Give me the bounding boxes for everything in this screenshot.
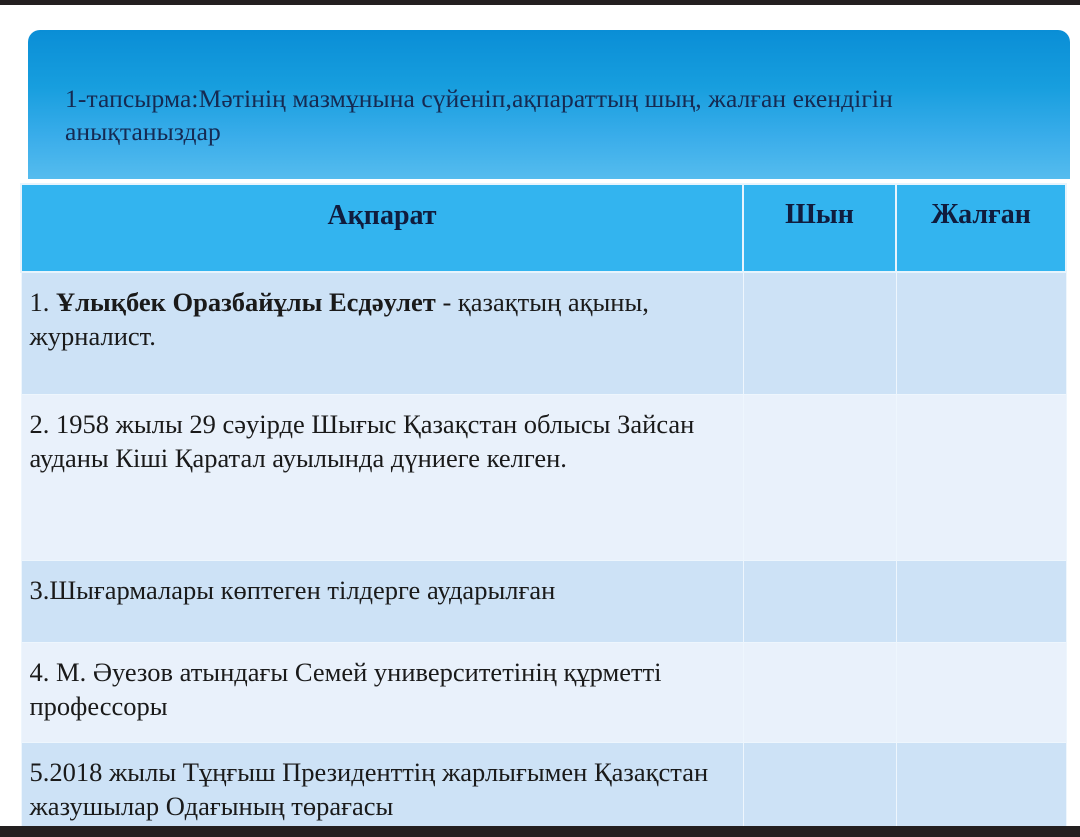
statement-text: 4. М. Әуезов атындағы Семей университеті…	[30, 655, 729, 724]
false-answer-cell[interactable]	[896, 394, 1066, 560]
table-row: 1. Ұлықбек Оразбайұлы Есдәулет - қазақты…	[21, 272, 1066, 394]
statement-cell: 1. Ұлықбек Оразбайұлы Есдәулет - қазақты…	[21, 272, 743, 394]
statement-cell: 5.2018 жылы Тұңғыш Президенттің жарлығым…	[21, 742, 743, 826]
false-answer-cell[interactable]	[896, 642, 1066, 742]
statement-number: 1.	[30, 287, 57, 317]
statement-bold-name: Ұлықбек Оразбайұлы Есдәулет	[56, 287, 436, 317]
statement-text: 3.Шығармалары көптеген тілдерге аударылғ…	[30, 573, 729, 607]
information-table: Ақпарат Шын Жалған 1. Ұлықбек Оразбайұлы…	[20, 183, 1067, 826]
screenshot-top-bar	[0, 0, 1080, 5]
true-answer-cell[interactable]	[743, 560, 896, 642]
slide-canvas: 1-тапсырма:Мәтінің мазмұнына сүйеніп,ақп…	[0, 5, 1080, 826]
false-answer-cell[interactable]	[896, 560, 1066, 642]
statement-text: 5.2018 жылы Тұңғыш Президенттің жарлығым…	[30, 755, 729, 824]
screenshot-bottom-bar	[0, 826, 1080, 837]
table-row: 5.2018 жылы Тұңғыш Президенттің жарлығым…	[21, 742, 1066, 826]
table-row: 2. 1958 жылы 29 сәуірде Шығыс Қазақстан …	[21, 394, 1066, 560]
true-answer-cell[interactable]	[743, 394, 896, 560]
false-answer-cell[interactable]	[896, 272, 1066, 394]
page-title: 1-тапсырма:Мәтінің мазмұнына сүйеніп,ақп…	[28, 83, 1070, 147]
table-header-row: Ақпарат Шын Жалған	[21, 184, 1066, 272]
false-answer-cell[interactable]	[896, 742, 1066, 826]
table-row: 4. М. Әуезов атындағы Семей университеті…	[21, 642, 1066, 742]
true-answer-cell[interactable]	[743, 272, 896, 394]
statement-cell: 3.Шығармалары көптеген тілдерге аударылғ…	[21, 560, 743, 642]
column-header-true: Шын	[743, 184, 896, 272]
column-header-information: Ақпарат	[21, 184, 743, 272]
table-row: 3.Шығармалары көптеген тілдерге аударылғ…	[21, 560, 1066, 642]
statement-cell: 2. 1958 жылы 29 сәуірде Шығыс Қазақстан …	[21, 394, 743, 560]
statement-cell: 4. М. Әуезов атындағы Семей университеті…	[21, 642, 743, 742]
statement-text: 2. 1958 жылы 29 сәуірде Шығыс Қазақстан …	[30, 407, 729, 476]
statement-text: 1. Ұлықбек Оразбайұлы Есдәулет - қазақты…	[30, 285, 729, 354]
column-header-false: Жалған	[896, 184, 1066, 272]
true-answer-cell[interactable]	[743, 742, 896, 826]
true-answer-cell[interactable]	[743, 642, 896, 742]
title-banner: 1-тапсырма:Мәтінің мазмұнына сүйеніп,ақп…	[28, 30, 1070, 179]
